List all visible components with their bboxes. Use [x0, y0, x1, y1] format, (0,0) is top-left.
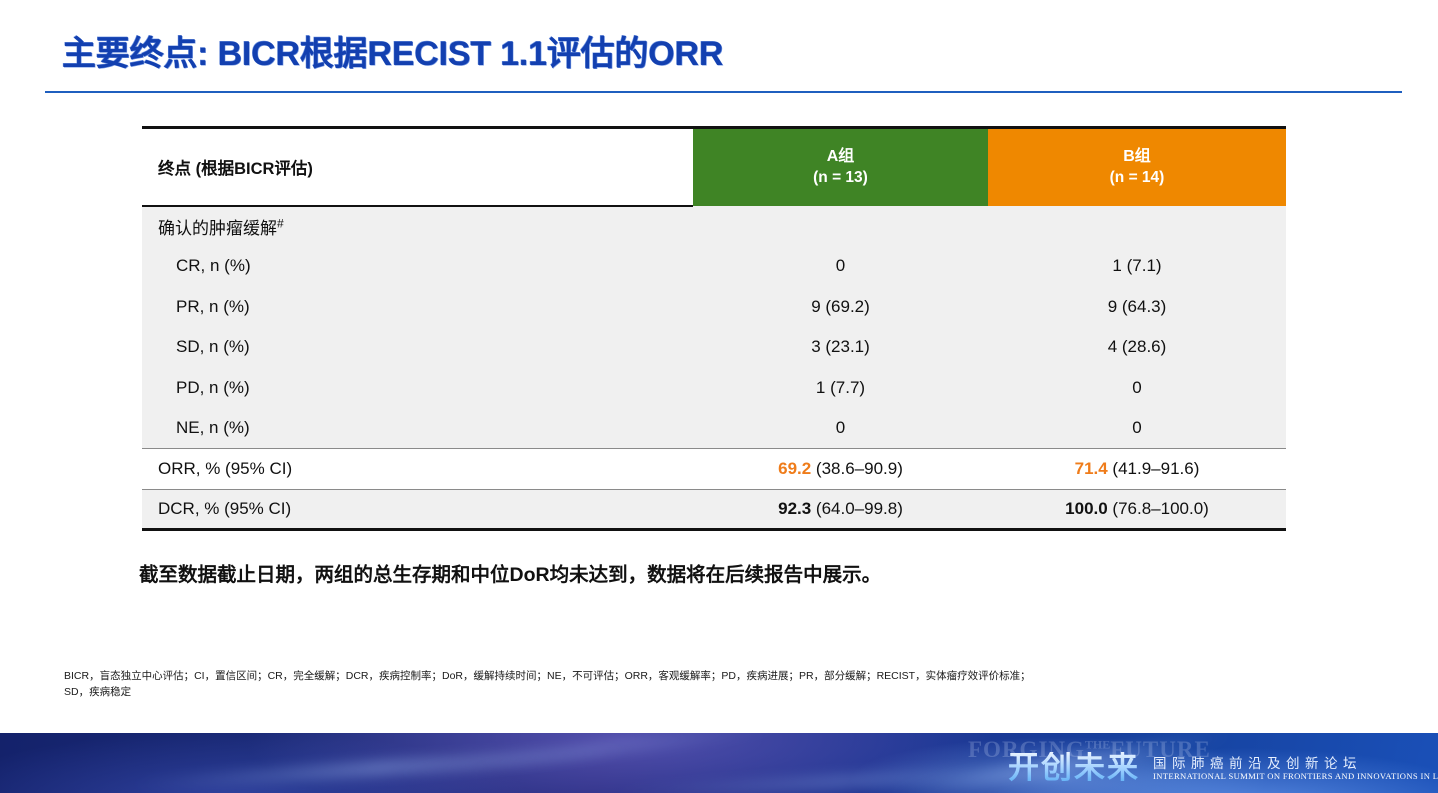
page-title: 主要终点: BICR根据RECIST 1.1评估的ORR: [62, 26, 723, 75]
row-value-dcr-b: 100.0 (76.8–100.0): [988, 489, 1286, 530]
row-value-orr-b: 71.4 (41.9–91.6): [988, 449, 1286, 490]
row-value-b: 0: [988, 368, 1286, 409]
orr-results-table-wrapper: 终点 (根据BICR评估) A组 (n = 13) B组 (n = 14) 确认…: [142, 126, 1286, 531]
column-header-group-a: A组 (n = 13): [693, 128, 988, 206]
column-header-endpoint: 终点 (根据BICR评估): [142, 128, 693, 206]
footer-brand-logo: 开创未来 国际肺癌前沿及创新论坛 INTERNATIONAL SUMMIT ON…: [1008, 752, 1438, 783]
row-label-pd: PD, n (%): [142, 368, 693, 409]
table-row: CR, n (%) 0 1 (7.1): [142, 246, 1286, 287]
row-label-orr: ORR, % (95% CI): [142, 449, 693, 490]
row-value-a: [693, 206, 988, 247]
orr-b-value: 71.4: [1075, 459, 1108, 478]
group-a-n: (n = 13): [693, 168, 988, 189]
row-label-dcr: DCR, % (95% CI): [142, 489, 693, 530]
dcr-a-ci: (64.0–99.8): [811, 499, 903, 518]
brand-subtitle-block: 国际肺癌前沿及创新论坛 INTERNATIONAL SUMMIT ON FRON…: [1153, 757, 1438, 783]
row-value-b: 9 (64.3): [988, 287, 1286, 328]
table-body: 确认的肿瘤缓解# CR, n (%) 0 1 (7.1) PR, n (%) 9…: [142, 206, 1286, 530]
row-value-a: 9 (69.2): [693, 287, 988, 328]
row-value-b: 1 (7.1): [988, 246, 1286, 287]
dcr-b-value: 100.0: [1065, 499, 1108, 518]
slide-canvas: 主要终点: BICR根据RECIST 1.1评估的ORR 终点 (根据BICR评…: [0, 0, 1438, 793]
row-value-b: 0: [988, 408, 1286, 449]
orr-b-ci: (41.9–91.6): [1108, 459, 1200, 478]
table-row-orr: ORR, % (95% CI) 69.2 (38.6–90.9) 71.4 (4…: [142, 449, 1286, 490]
row-value-a: 1 (7.7): [693, 368, 988, 409]
group-b-name: B组: [988, 146, 1286, 168]
row-value-orr-a: 69.2 (38.6–90.9): [693, 449, 988, 490]
row-value-a: 0: [693, 246, 988, 287]
summary-note: 截至数据截止日期，两组的总生存期和中位DoR均未达到，数据将在后续报告中展示。: [139, 558, 881, 587]
row-value-a: 0: [693, 408, 988, 449]
row-label-cr: CR, n (%): [142, 246, 693, 287]
table-row: NE, n (%) 0 0: [142, 408, 1286, 449]
table-row: SD, n (%) 3 (23.1) 4 (28.6): [142, 327, 1286, 368]
group-a-name: A组: [693, 146, 988, 168]
table-row: PD, n (%) 1 (7.7) 0: [142, 368, 1286, 409]
footer-swoosh-decoration: [381, 733, 799, 780]
title-divider: [45, 91, 1402, 93]
row-label-sd: SD, n (%): [142, 327, 693, 368]
dcr-b-ci: (76.8–100.0): [1108, 499, 1209, 518]
row-value-b: 4 (28.6): [988, 327, 1286, 368]
row-value-b: [988, 206, 1286, 247]
orr-a-ci: (38.6–90.9): [811, 459, 903, 478]
group-b-n: (n = 14): [988, 168, 1286, 189]
footnote-marker: #: [277, 216, 284, 230]
table-row-dcr: DCR, % (95% CI) 92.3 (64.0–99.8) 100.0 (…: [142, 489, 1286, 530]
row-label-pr: PR, n (%): [142, 287, 693, 328]
footnote-line-2: SD，疾病稳定: [64, 684, 1354, 700]
table-row: PR, n (%) 9 (69.2) 9 (64.3): [142, 287, 1286, 328]
row-label-ne: NE, n (%): [142, 408, 693, 449]
brand-subtitle-cn: 国际肺癌前沿及创新论坛: [1153, 757, 1438, 771]
brand-subtitle-en: INTERNATIONAL SUMMIT ON FRONTIERS AND IN…: [1153, 772, 1438, 781]
orr-a-value: 69.2: [778, 459, 811, 478]
table-header: 终点 (根据BICR评估) A组 (n = 13) B组 (n = 14): [142, 128, 1286, 206]
row-value-dcr-a: 92.3 (64.0–99.8): [693, 489, 988, 530]
row-value-a: 3 (23.1): [693, 327, 988, 368]
orr-results-table: 终点 (根据BICR评估) A组 (n = 13) B组 (n = 14) 确认…: [142, 126, 1286, 531]
dcr-a-value: 92.3: [778, 499, 811, 518]
footnote-line-1: BICR，盲态独立中心评估；CI，置信区间；CR，完全缓解；DCR，疾病控制率；…: [64, 668, 1354, 684]
table-header-row: 终点 (根据BICR评估) A组 (n = 13) B组 (n = 14): [142, 128, 1286, 206]
column-header-group-b: B组 (n = 14): [988, 128, 1286, 206]
table-row: 确认的肿瘤缓解#: [142, 206, 1286, 247]
brand-name-cn: 开创未来: [1008, 752, 1140, 783]
row-label-confirmed-response: 确认的肿瘤缓解#: [142, 206, 693, 247]
abbreviations-footnote: BICR，盲态独立中心评估；CI，置信区间；CR，完全缓解；DCR，疾病控制率；…: [64, 668, 1354, 701]
